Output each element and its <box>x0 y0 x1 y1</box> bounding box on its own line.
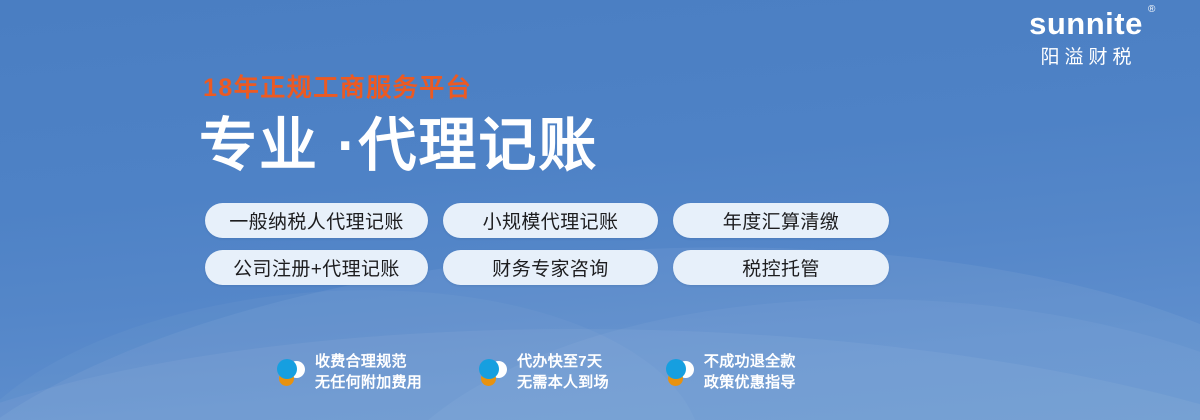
feature-line-2: 政策优惠指导 <box>704 372 796 393</box>
logo-wordmark-text: sunnite <box>1029 6 1143 41</box>
service-pill[interactable]: 年度汇算清缴 <box>673 203 889 238</box>
feature-item: 收费合理规范 无任何附加费用 <box>276 351 422 394</box>
feature-line-1: 收费合理规范 <box>315 351 422 372</box>
feature-text: 不成功退全款 政策优惠指导 <box>704 351 796 394</box>
feature-text: 代办快至7天 无需本人到场 <box>517 351 609 394</box>
feature-line-1: 不成功退全款 <box>704 351 796 372</box>
service-pill-group: 一般纳税人代理记账 小规模代理记账 年度汇算清缴 公司注册+代理记账 财务专家咨… <box>205 203 889 297</box>
registered-trademark-icon: ® <box>1148 5 1156 15</box>
service-pill[interactable]: 一般纳税人代理记账 <box>205 203 428 238</box>
hero-headline: 专业 ·代理记账 <box>199 112 598 179</box>
feature-item: 不成功退全款 政策优惠指导 <box>665 351 796 394</box>
service-pill[interactable]: 财务专家咨询 <box>443 250 658 285</box>
service-pill[interactable]: 公司注册+代理记账 <box>205 250 428 285</box>
feature-item: 代办快至7天 无需本人到场 <box>478 351 609 394</box>
logo-wordmark: sunnite ® <box>1029 8 1143 39</box>
brand-logo[interactable]: sunnite ® 阳溢财税 <box>996 8 1176 67</box>
service-pill[interactable]: 税控托管 <box>673 250 889 285</box>
feature-line-2: 无需本人到场 <box>517 372 609 393</box>
three-dots-icon <box>665 356 695 388</box>
service-pill-row-2: 公司注册+代理记账 财务专家咨询 税控托管 <box>205 250 889 285</box>
feature-line-2: 无任何附加费用 <box>315 372 422 393</box>
feature-line-1: 代办快至7天 <box>517 351 609 372</box>
three-dots-icon <box>478 356 508 388</box>
logo-chinese-name: 阳溢财税 <box>996 48 1176 67</box>
service-pill[interactable]: 小规模代理记账 <box>443 203 658 238</box>
service-pill-row-1: 一般纳税人代理记账 小规模代理记账 年度汇算清缴 <box>205 203 889 238</box>
three-dots-icon <box>276 356 306 388</box>
hero-eyebrow: 18年正规工商服务平台 <box>203 76 472 101</box>
feature-list: 收费合理规范 无任何附加费用 代办快至7天 无需本人到场 不成功退全款 <box>276 351 796 394</box>
feature-text: 收费合理规范 无任何附加费用 <box>315 351 422 394</box>
promo-banner: sunnite ® 阳溢财税 18年正规工商服务平台 专业 ·代理记账 一般纳税… <box>0 0 1200 420</box>
